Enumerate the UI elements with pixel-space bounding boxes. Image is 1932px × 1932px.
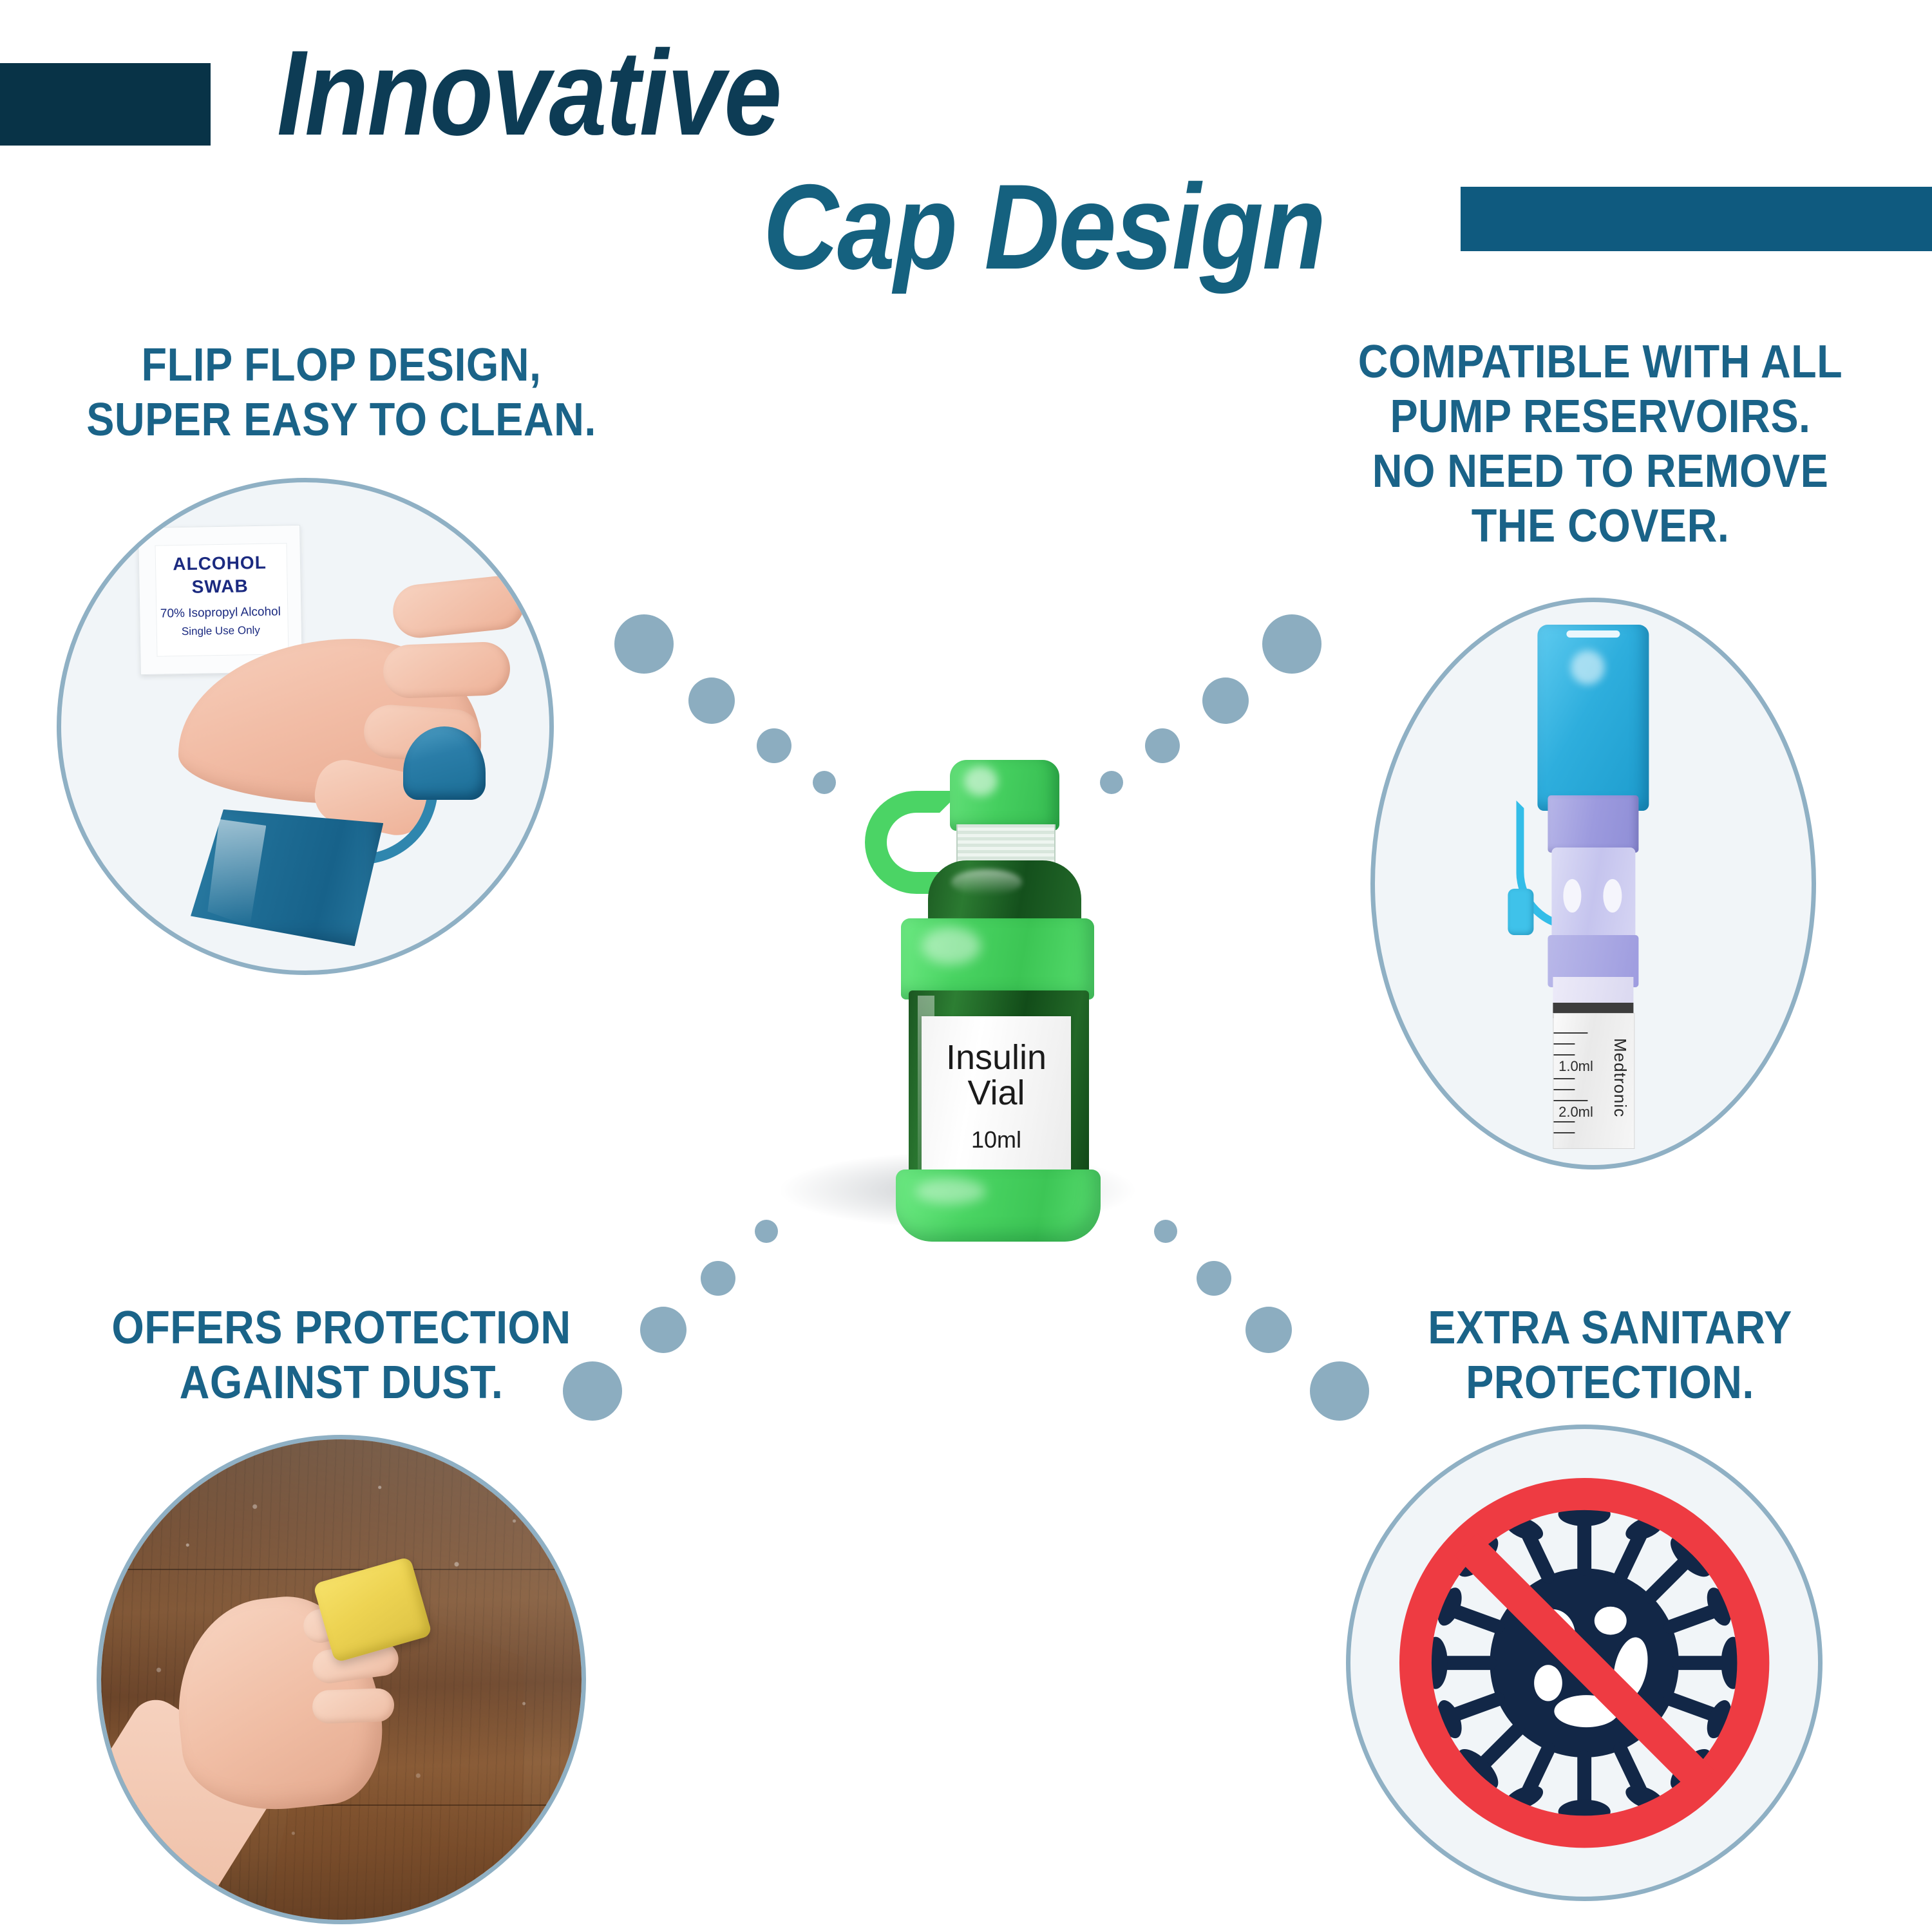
connector-dot [1100,771,1123,794]
connector-dot [640,1307,687,1353]
graduation-tick [1554,1078,1575,1079]
connector-dot [813,771,836,794]
caption-tr-line-2: PUMP RESERVOIRS. [1311,390,1890,444]
graduation-label-2ml: 2.0ml [1558,1104,1593,1121]
blue-vial-holder-cone [178,810,383,946]
connector-dot [563,1361,622,1421]
graduation-tick [1554,1043,1575,1045]
vial-label-line-2: Vial [967,1075,1025,1111]
caption-tr-line-1: COMPATIBLE WITH ALL [1311,335,1890,390]
wiping-finger-3 [312,1688,395,1725]
insulin-vial-product: Insulin Vial 10ml [867,752,1099,1242]
connector-dot [701,1261,735,1296]
connector-dot [755,1220,778,1243]
base-highlight [915,1179,986,1204]
caption-tr-line-3: NO NEED TO REMOVE [1311,444,1890,499]
title-line-1: Innovative [277,32,781,153]
caption-dust-protection: OFFERS PROTECTION AGAINST DUST. [80,1301,602,1410]
icon-circle-no-virus [1346,1425,1823,1901]
vial-label-line-1: Insulin [946,1040,1046,1075]
graduation-label-1ml: 1.0ml [1558,1058,1593,1075]
infographic-canvas: Innovative Cap Design FLIP FLOP DESIGN, … [0,0,1932,1932]
top-cap-highlight [964,766,998,796]
connector-dot [1262,614,1321,674]
transfer-guard-window-right [1604,879,1622,913]
page-title: Innovative Cap Design [0,13,1932,290]
transfer-guard-window-left [1563,879,1582,913]
graduation-tick [1554,1089,1575,1090]
swab-title-line-1: ALCOHOL [139,552,301,575]
reservoir-transfer-guard [1551,848,1635,946]
connector-dot [1245,1307,1292,1353]
caption-br-line-1: EXTRA SANITARY [1349,1301,1871,1356]
caption-tr-line-4: THE COVER. [1311,499,1890,554]
graduation-tick [1554,1132,1575,1133]
photo-circle-pump-reservoir: 1.0ml 2.0ml Medtronic [1370,598,1816,1170]
connector-dot [757,728,791,763]
caption-sanitary-protection: EXTRA SANITARY PROTECTION. [1349,1301,1871,1410]
graduation-tick [1554,1100,1587,1101]
graduation-tick [1554,1121,1575,1122]
caption-tl-line-1: FLIP FLOP DESIGN, [69,338,614,393]
caption-compatible-reservoirs: COMPATIBLE WITH ALL PUMP RESERVOIRS. NO … [1311,335,1890,554]
caption-flip-flop-design: FLIP FLOP DESIGN, SUPER EASY TO CLEAN. [69,338,614,448]
reservoir-assembly: 1.0ml 2.0ml Medtronic [1506,625,1680,1142]
finger-index [391,573,527,640]
finger-middle [383,641,511,699]
connector-dot [1197,1261,1231,1296]
reservoir-barrel: 1.0ml 2.0ml Medtronic [1553,1013,1635,1149]
connector-dot [614,614,674,674]
vial-top-cap [950,760,1059,831]
reservoir-upper-collar [1548,795,1638,852]
blue-cap-cover [1537,625,1649,811]
vial-label: Insulin Vial 10ml [922,1016,1071,1177]
reservoir-brand-label: Medtronic [1610,1038,1630,1117]
photo-circle-dust-wiping [97,1435,586,1924]
shoulder-highlight [951,869,1022,895]
connector-dot [1154,1220,1177,1243]
connector-dot [688,677,735,724]
connector-dot [1310,1361,1369,1421]
vial-threaded-neck [956,824,1056,864]
no-virus-icon [1383,1462,1785,1864]
caption-bl-line-2: AGAINST DUST. [80,1356,602,1410]
title-line-2: Cap Design [763,166,1325,287]
cap-slot-opening [1566,630,1620,638]
connector-dot [1145,728,1180,763]
caption-tl-line-2: SUPER EASY TO CLEAN. [69,393,614,448]
vial-label-volume: 10ml [971,1126,1021,1153]
vial-green-base [896,1170,1101,1242]
collar-highlight [922,927,981,965]
cap-highlight [1571,650,1604,684]
swab-subtitle-1: 70% Isopropyl Alcohol [140,605,301,621]
caption-bl-line-1: OFFERS PROTECTION [80,1301,602,1356]
graduation-tick [1554,1032,1587,1034]
swab-title-line-2: SWAB [140,575,301,598]
photo-circle-flip-flop-cleaning: ALCOHOL SWAB 70% Isopropyl Alcohol Singl… [57,478,554,975]
connector-dot [1202,677,1249,724]
reservoir-tether-tab [1508,889,1534,935]
caption-br-line-2: PROTECTION. [1349,1356,1871,1410]
graduation-tick [1554,1054,1575,1056]
